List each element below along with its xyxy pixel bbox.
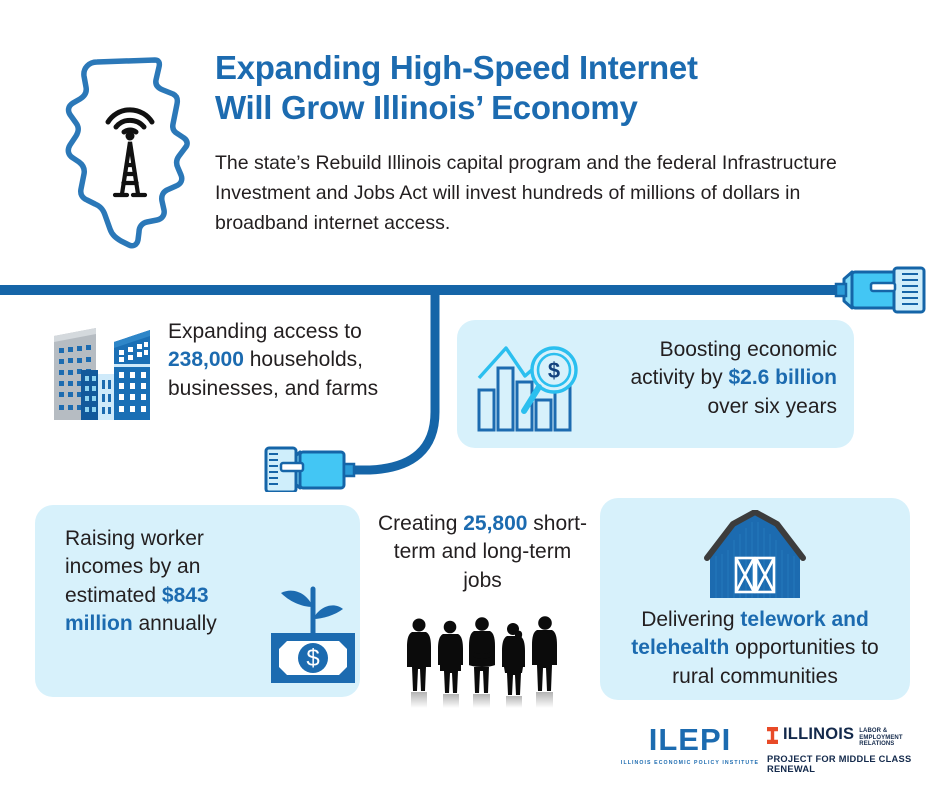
page-title: Expanding High-Speed Internet Will Grow … [215,48,875,129]
ilepi-tagline: ILLINOIS ECONOMIC POLICY INSTITUTE [620,760,760,766]
stat-worker-incomes-post: annually [133,612,217,635]
stat-access-value: 238,000 [168,348,244,371]
uiuc-illinois-wordmark: ILLINOIS [783,726,854,743]
page-title-line2: Will Grow Illinois’ Economy [215,88,875,128]
svg-text:$: $ [306,645,319,672]
ethernet-plug-icon-right [836,268,924,312]
stat-telework: Delivering telework and telehealth oppor… [600,498,910,700]
city-buildings-icon [48,320,158,425]
stat-telework-pre: Delivering [641,608,740,631]
svg-text:$: $ [548,358,560,383]
money-plant-icon: $ [257,567,369,685]
stat-economic-activity-post: over six years [707,395,837,418]
stat-worker-incomes-text: Raising worker incomes by an estimated $… [65,525,240,638]
ethernet-plug-icon-left [266,448,354,492]
stat-economic-activity: $ Boosting economic activity by $2.6 bil… [457,320,854,448]
bar-chart-magnifier-dollar-icon: $ [475,338,595,433]
uiuc-project-name: PROJECT FOR MIDDLE CLASS RENEWAL [767,754,922,774]
uiuc-unit-line1: LABOR & EMPLOYMENT [859,728,922,741]
block-i-icon [767,727,778,744]
uiuc-logo-top-row: ILLINOIS LABOR & EMPLOYMENT RELATIONS [767,726,922,748]
stat-jobs-text: Creating 25,800 short-term and long-term… [375,510,590,595]
stat-telework-text: Delivering telework and telehealth oppor… [608,606,902,691]
stat-access-text: Expanding access to 238,000 households, … [168,318,440,403]
page-title-line1: Expanding High-Speed Internet [215,48,875,88]
infographic-canvas: Expanding High-Speed Internet Will Grow … [0,0,940,788]
stat-economic-activity-value: $2.6 billion [728,366,837,389]
uiuc-unit-name: LABOR & EMPLOYMENT RELATIONS [859,728,922,748]
stat-economic-activity-text: Boosting economic activity by $2.6 billi… [599,336,837,421]
barn-icon [688,510,823,600]
uiuc-ler-logo: ILLINOIS LABOR & EMPLOYMENT RELATIONS PR… [767,726,922,774]
people-silhouettes-icon [403,615,565,710]
uiuc-unit-line2: RELATIONS [859,741,922,748]
stat-jobs-pre: Creating [378,512,463,535]
ilepi-wordmark: ILEPI [620,724,760,755]
stat-worker-incomes: Raising worker incomes by an estimated $… [35,505,360,697]
illinois-outline-with-broadcast-tower-icon [55,32,205,252]
ilepi-logo: ILEPI ILLINOIS ECONOMIC POLICY INSTITUTE [620,724,760,766]
stat-jobs-value: 25,800 [463,512,527,535]
stat-jobs: Creating 25,800 short-term and long-term… [375,505,590,705]
page-subtitle: The state’s Rebuild Illinois capital pro… [215,148,875,239]
stat-access: Expanding access to 238,000 households, … [40,312,440,432]
footer-logos: ILEPI ILLINOIS ECONOMIC POLICY INSTITUTE… [615,718,920,780]
stat-access-pre: Expanding access to [168,320,362,343]
header-text-group: Expanding High-Speed Internet Will Grow … [215,48,875,238]
